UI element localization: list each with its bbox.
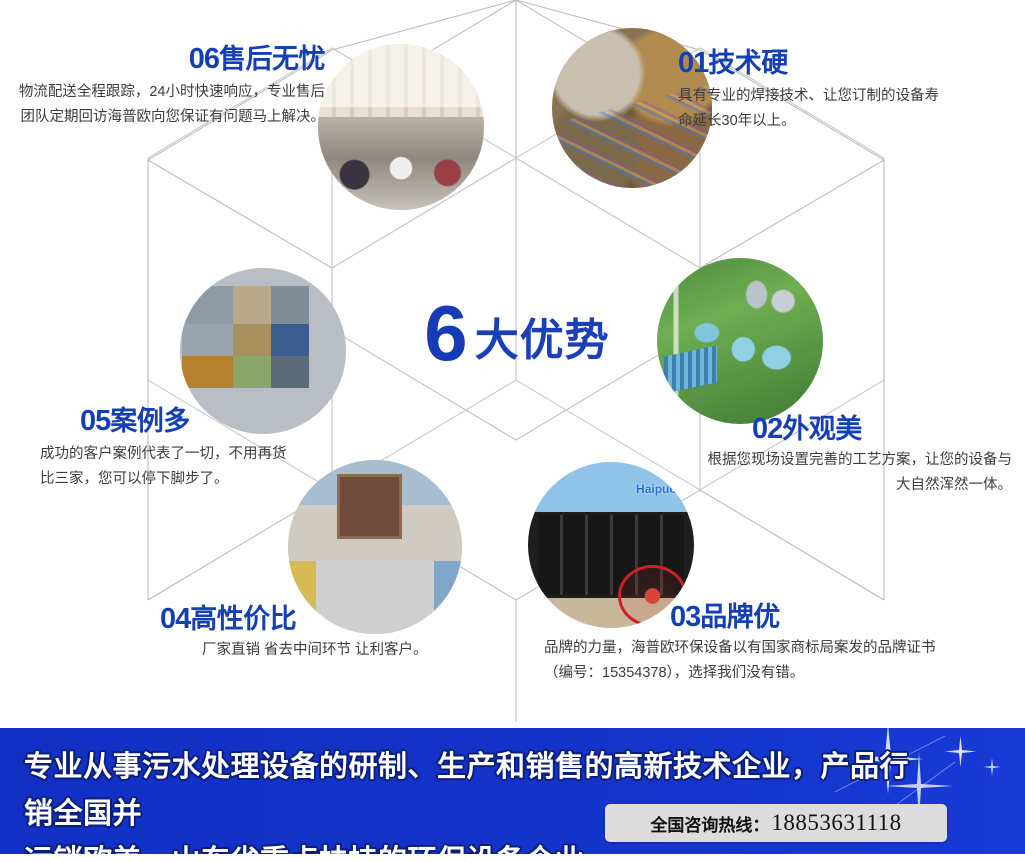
feature-04-number: 04 xyxy=(160,603,190,635)
feature-04-heading: 04高性价比 xyxy=(160,604,480,634)
center-number: 6 xyxy=(424,294,464,372)
hotline-number: 18853631118 xyxy=(771,810,901,836)
feature-02-number: 02 xyxy=(752,413,782,445)
feature-03: 03品牌优 品牌的力量，海普欧环保设备以有国家商标局案发的品牌证书（编号：153… xyxy=(544,602,944,686)
feature-01-number: 01 xyxy=(678,47,708,79)
feature-03-body: 品牌的力量，海普欧环保设备以有国家商标局案发的品牌证书（编号：15354378）… xyxy=(544,636,942,686)
feature-03-number: 03 xyxy=(670,601,700,633)
feature-06-image xyxy=(318,44,484,210)
feature-01-body: 具有专业的焊接技术、让您订制的设备寿命延长30年以上。 xyxy=(678,84,946,134)
hotline-label: 全国咨询热线： xyxy=(650,811,769,836)
feature-01-title: 技术硬 xyxy=(708,48,788,78)
feature-04: 04高性价比 厂家直销 省去中间环节 让利客户。 xyxy=(160,604,480,663)
haipuou-logo: Haipuou xyxy=(636,482,684,496)
feature-05-heading: 05案例多 xyxy=(80,406,340,436)
feature-02: 02外观美 根据您现场设置完善的工艺方案，让您的设备与大自然浑然一体。 xyxy=(700,414,1012,498)
feature-06-number: 06 xyxy=(189,43,219,75)
feature-02-image xyxy=(657,258,823,424)
feature-01: 01技术硬 具有专业的焊接技术、让您订制的设备寿命延长30年以上。 xyxy=(678,48,1008,134)
feature-06: 06售后无忧 物流配送全程跟踪，24小时快速响应，专业售后团队定期回访海普欧向您… xyxy=(10,44,325,130)
feature-03-heading: 03品牌优 xyxy=(670,602,944,632)
feature-02-title: 外观美 xyxy=(782,414,862,444)
wastewater-plant-aerial-photo xyxy=(657,258,823,424)
feature-04-title: 高性价比 xyxy=(190,604,296,634)
feature-02-body: 根据您现场设置完善的工艺方案，让您的设备与大自然浑然一体。 xyxy=(700,448,1012,498)
center-label: 大优势 xyxy=(475,304,610,368)
feature-02-heading: 02外观美 xyxy=(752,414,1012,444)
feature-05-title: 案例多 xyxy=(110,406,190,436)
feature-06-body: 物流配送全程跟踪，24小时快速响应，专业售后团队定期回访海普欧向您保证有问题马上… xyxy=(10,80,325,130)
hotline-box[interactable]: 全国咨询热线： 18853631118 xyxy=(605,804,947,842)
feature-06-heading: 06售后无忧 xyxy=(10,44,325,74)
feature-03-title: 品牌优 xyxy=(700,602,780,632)
feature-06-title: 售后无忧 xyxy=(219,44,325,74)
feature-01-heading: 01技术硬 xyxy=(678,48,1008,78)
feature-05: 05案例多 成功的客户案例代表了一切，不用再货比三家，您可以停下脚步了。 xyxy=(40,406,340,492)
feature-05-body: 成功的客户案例代表了一切，不用再货比三家，您可以停下脚步了。 xyxy=(40,442,290,492)
feature-04-body: 厂家直销 省去中间环节 让利客户。 xyxy=(202,638,480,663)
center-title: 6 大优势 xyxy=(392,288,642,384)
office-staff-photo xyxy=(318,44,484,210)
feature-05-number: 05 xyxy=(80,405,110,437)
promo-infographic: Haipuou 6 大优势 06售后无忧 物流配送全程跟踪，24小时快速响应，专… xyxy=(0,0,1025,862)
